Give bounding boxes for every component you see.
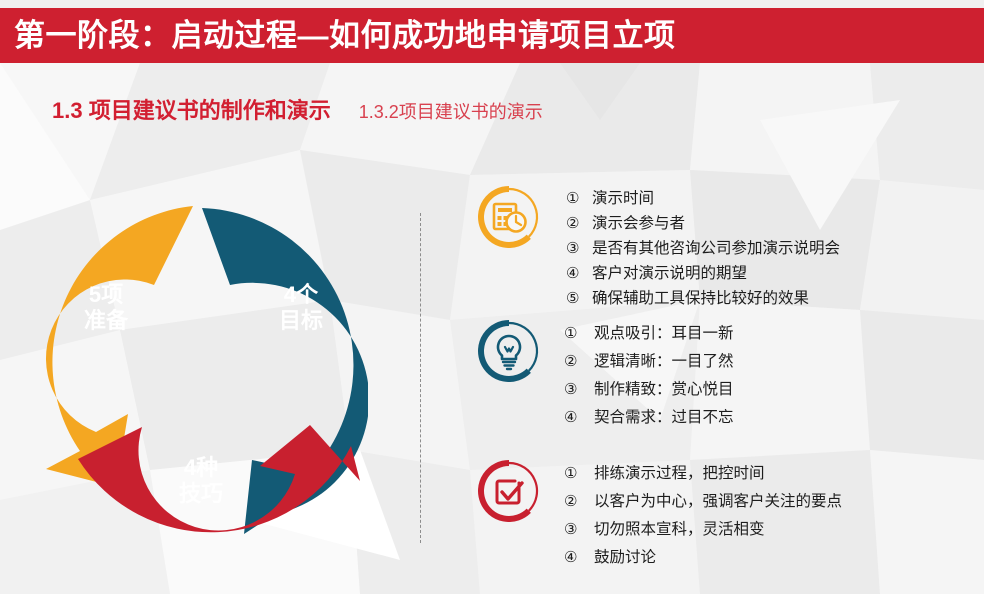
cycle-diagram: 5项准备 4个目标 4种技巧: [38, 198, 368, 538]
list-item: ⑤ 确保辅助工具保持比较好的效果: [566, 286, 840, 311]
list-item-number: ④: [566, 261, 592, 286]
list-demo-prep: ① 演示时间 ② 演示会参与者 ③ 是否有其他咨询公司参加演示说明会 ④ 客户对…: [566, 186, 840, 311]
list-item-number: ①: [566, 186, 592, 211]
list-item-text: 鼓励讨论: [594, 544, 656, 572]
list-delivery-tips: ① 排练演示过程，把控时间 ② 以客户为中心，强调客户关注的要点 ③ 切勿照本宣…: [564, 460, 842, 572]
list-item-text: 逻辑清晰：一目了然: [594, 348, 734, 376]
list-item-text: 以客户为中心，强调客户关注的要点: [594, 488, 842, 516]
page-title: 第一阶段：启动过程—如何成功地申请项目立项: [14, 20, 676, 51]
cycle-segment-skills[interactable]: [78, 425, 360, 532]
list-item: ① 演示时间: [566, 186, 840, 211]
content-group-demo-prep: ① 演示时间 ② 演示会参与者 ③ 是否有其他咨询公司参加演示说明会 ④ 客户对…: [478, 186, 840, 311]
content-group-delivery-tips: ① 排练演示过程，把控时间 ② 以客户为中心，强调客户关注的要点 ③ 切勿照本宣…: [478, 460, 842, 572]
list-item-number: ⑤: [566, 286, 592, 311]
list-item-text: 是否有其他咨询公司参加演示说明会: [592, 236, 840, 261]
calendar-clock-icon: [478, 186, 540, 248]
list-item: ③ 是否有其他咨询公司参加演示说明会: [566, 236, 840, 261]
cycle-label-preparation: 5项准备: [84, 282, 129, 333]
list-item: ④ 客户对演示说明的期望: [566, 261, 840, 286]
subtitle-row: 1.3 项目建议书的制作和演示 1.3.2项目建议书的演示: [52, 93, 543, 125]
list-item-text: 演示时间: [592, 186, 654, 211]
list-item-text: 切勿照本宣科，灵活相变: [594, 516, 765, 544]
list-item-text: 排练演示过程，把控时间: [594, 460, 765, 488]
list-item-number: ④: [564, 544, 594, 572]
checkbox-check-icon: [478, 460, 540, 522]
list-item: ① 观点吸引：耳目一新: [564, 320, 734, 348]
list-item: ④ 契合需求：过目不忘: [564, 404, 734, 432]
list-item-number: ③: [566, 236, 592, 261]
list-item-number: ②: [564, 488, 594, 516]
list-item-number: ②: [564, 348, 594, 376]
list-item-text: 制作精致：赏心悦目: [594, 376, 734, 404]
list-item-text: 演示会参与者: [592, 211, 685, 236]
vertical-divider: [420, 213, 421, 543]
list-item: ③ 切勿照本宣科，灵活相变: [564, 516, 842, 544]
list-item: ③ 制作精致：赏心悦目: [564, 376, 734, 404]
lightbulb-icon: [478, 320, 540, 382]
section-title: 1.3 项目建议书的制作和演示: [52, 93, 331, 125]
list-item-number: ②: [566, 211, 592, 236]
list-item-number: ④: [564, 404, 594, 432]
list-item-text: 确保辅助工具保持比较好的效果: [592, 286, 809, 311]
list-item-text: 观点吸引：耳目一新: [594, 320, 734, 348]
header-banner: 第一阶段：启动过程—如何成功地申请项目立项: [0, 8, 984, 63]
list-item-number: ①: [564, 460, 594, 488]
list-item: ② 以客户为中心，强调客户关注的要点: [564, 488, 842, 516]
cycle-label-skills: 4种技巧: [179, 455, 223, 506]
cycle-label-goals: 4个目标: [279, 282, 323, 333]
list-item: ② 逻辑清晰：一目了然: [564, 348, 734, 376]
content-group-presentation-quality: ① 观点吸引：耳目一新 ② 逻辑清晰：一目了然 ③ 制作精致：赏心悦目 ④ 契合…: [478, 320, 734, 432]
subsection-title: 1.3.2项目建议书的演示: [359, 98, 543, 124]
cycle-segment-goals[interactable]: [202, 208, 368, 534]
list-item-text: 客户对演示说明的期望: [592, 261, 747, 286]
list-presentation-quality: ① 观点吸引：耳目一新 ② 逻辑清晰：一目了然 ③ 制作精致：赏心悦目 ④ 契合…: [564, 320, 734, 432]
list-item-number: ①: [564, 320, 594, 348]
list-item: ① 排练演示过程，把控时间: [564, 460, 842, 488]
list-item: ④ 鼓励讨论: [564, 544, 842, 572]
list-item-text: 契合需求：过目不忘: [594, 404, 734, 432]
list-item-number: ③: [564, 516, 594, 544]
list-item-number: ③: [564, 376, 594, 404]
list-item: ② 演示会参与者: [566, 211, 840, 236]
